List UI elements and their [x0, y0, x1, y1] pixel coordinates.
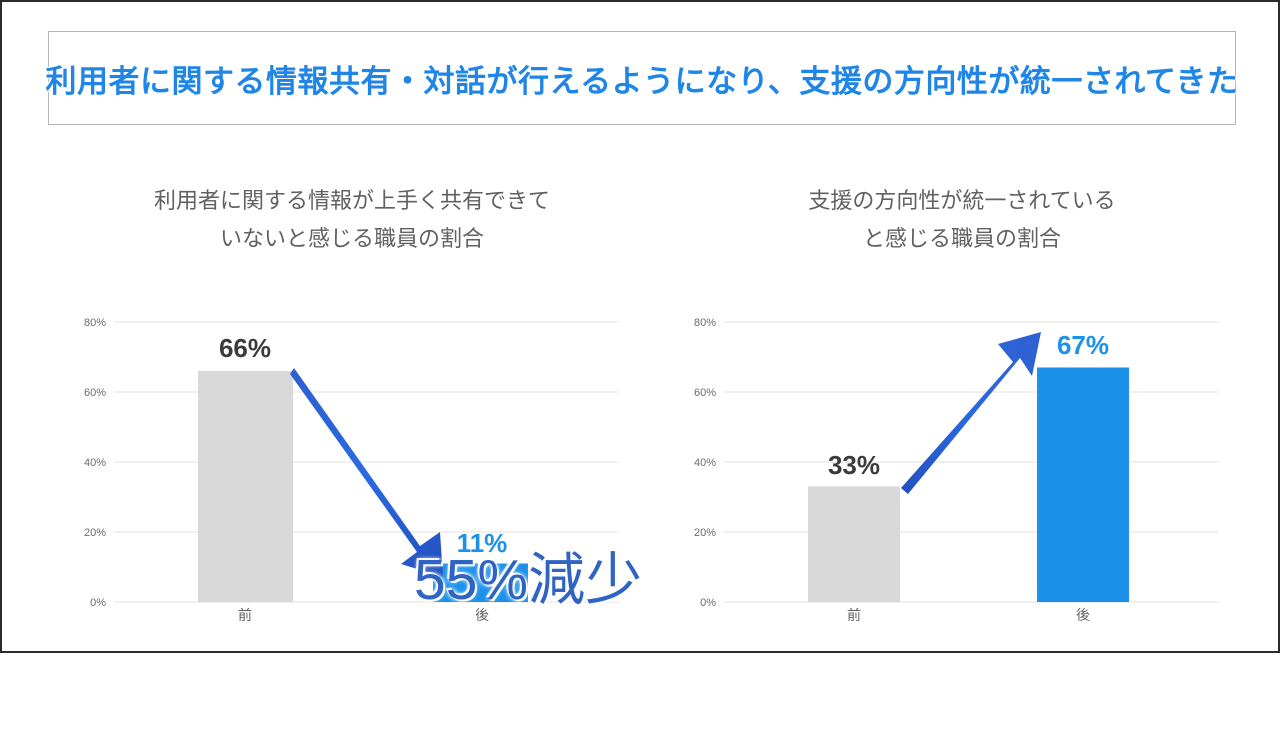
- chart-title-left-line2: いないと感じる職員の割合: [62, 220, 642, 258]
- y-tick-60-right: 60%: [694, 387, 716, 399]
- arrow-down-right-icon: [290, 368, 443, 577]
- y-tick-60: 60%: [84, 387, 106, 399]
- chart-panel-right: 支援の方向性が統一されている と感じる職員の割合 80% 60% 40% 20%…: [682, 162, 1242, 632]
- y-tick-20: 20%: [84, 527, 106, 539]
- slide-canvas: 利用者に関する情報共有・対話が行えるようになり、支援の方向性が統一されてきた 利…: [0, 0, 1280, 653]
- chart-title-left: 利用者に関する情報が上手く共有できて いないと感じる職員の割合: [62, 182, 642, 258]
- bar-value-after-right: 67%: [1057, 330, 1109, 360]
- y-tick-0-right: 0%: [700, 597, 716, 609]
- y-tick-40: 40%: [84, 457, 106, 469]
- y-axis-right: 80% 60% 40% 20% 0%: [694, 317, 716, 609]
- y-tick-0: 0%: [90, 597, 106, 609]
- bar-chart-left-svg: 80% 60% 40% 20% 0% 66% 11% 前 後: [62, 302, 642, 622]
- bar-chart-left: 80% 60% 40% 20% 0% 66% 11% 前 後: [62, 302, 642, 622]
- bar-after-right[interactable]: [1037, 368, 1129, 603]
- chart-title-right-line2: と感じる職員の割合: [682, 220, 1242, 258]
- x-category-before-left: 前: [238, 607, 252, 622]
- bar-value-after-left: 11%: [457, 528, 508, 558]
- bar-chart-right-svg: 80% 60% 40% 20% 0% 33% 67% 前 後: [682, 302, 1242, 622]
- y-tick-80: 80%: [84, 317, 106, 329]
- bar-before-right[interactable]: [808, 487, 900, 603]
- chart-panel-left: 利用者に関する情報が上手く共有できて いないと感じる職員の割合: [62, 162, 642, 632]
- chart-title-right: 支援の方向性が統一されている と感じる職員の割合: [682, 182, 1242, 258]
- x-category-after-right: 後: [1076, 607, 1090, 622]
- gridlines-right: [724, 322, 1219, 602]
- y-tick-40-right: 40%: [694, 457, 716, 469]
- y-tick-80-right: 80%: [694, 317, 716, 329]
- slide-title-box: 利用者に関する情報共有・対話が行えるようになり、支援の方向性が統一されてきた: [48, 31, 1236, 125]
- arrow-up-right-icon: [901, 332, 1041, 494]
- bar-chart-right: 80% 60% 40% 20% 0% 33% 67% 前 後: [682, 302, 1242, 622]
- y-axis-left: 80% 60% 40% 20% 0%: [84, 317, 106, 609]
- page-title: 利用者に関する情報共有・対話が行えるようになり、支援の方向性が統一されてきた: [46, 56, 1239, 101]
- x-category-after-left: 後: [475, 607, 489, 622]
- bar-after-left[interactable]: [433, 564, 528, 603]
- bar-value-before-left: 66%: [219, 333, 271, 363]
- gridlines-left: [114, 322, 618, 602]
- bar-value-before-right: 33%: [828, 450, 880, 480]
- bar-before-left[interactable]: [198, 371, 293, 602]
- chart-title-right-line1: 支援の方向性が統一されている: [682, 182, 1242, 220]
- x-category-before-right: 前: [847, 607, 861, 622]
- chart-title-left-line1: 利用者に関する情報が上手く共有できて: [62, 182, 642, 220]
- y-tick-20-right: 20%: [694, 527, 716, 539]
